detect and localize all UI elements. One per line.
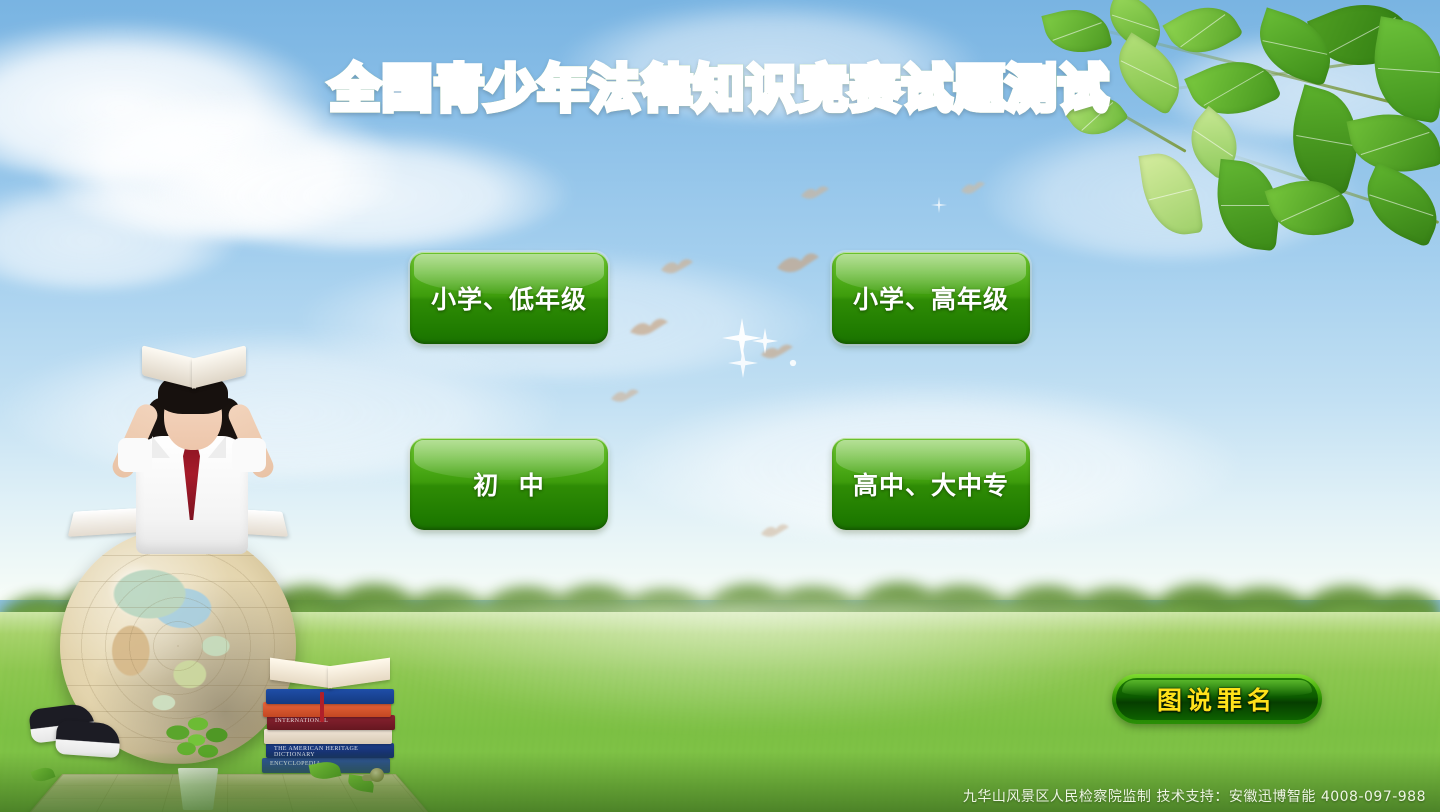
grass-highlight	[300, 600, 1200, 730]
grade-button-label: 小学、低年级	[410, 252, 608, 344]
page-title: 全国青少年法律知识竞赛试题测试	[0, 64, 1440, 114]
grade-button-grid: 小学、低年级 小学、高年级 初 中 高中、大中专	[410, 252, 1030, 542]
app-root: ENCYCLOPEDIA THE AMERICAN HERITAGE DICTI…	[0, 0, 1440, 812]
grade-button-label: 高中、大中专	[832, 438, 1030, 530]
grade-button-label: 小学、高年级	[832, 252, 1030, 344]
footer-credit-text: 九华山风景区人民检察院监制 技术支持：安徽迅博智能 4008-097-988	[963, 786, 1426, 806]
illustrated-crimes-label: 图说罪名	[1157, 681, 1277, 717]
grade-button-label: 初 中	[410, 438, 608, 530]
leaf-branch-decoration	[1020, 0, 1440, 270]
grade-button-primary-lower[interactable]: 小学、低年级	[410, 252, 608, 344]
grade-button-primary-upper[interactable]: 小学、高年级	[832, 252, 1030, 344]
illustrated-crimes-button-inner: 图说罪名	[1116, 678, 1318, 720]
grade-button-junior-high[interactable]: 初 中	[410, 438, 608, 530]
illustrated-crimes-button[interactable]: 图说罪名	[1112, 674, 1322, 724]
grade-button-senior-vocational[interactable]: 高中、大中专	[832, 438, 1030, 530]
